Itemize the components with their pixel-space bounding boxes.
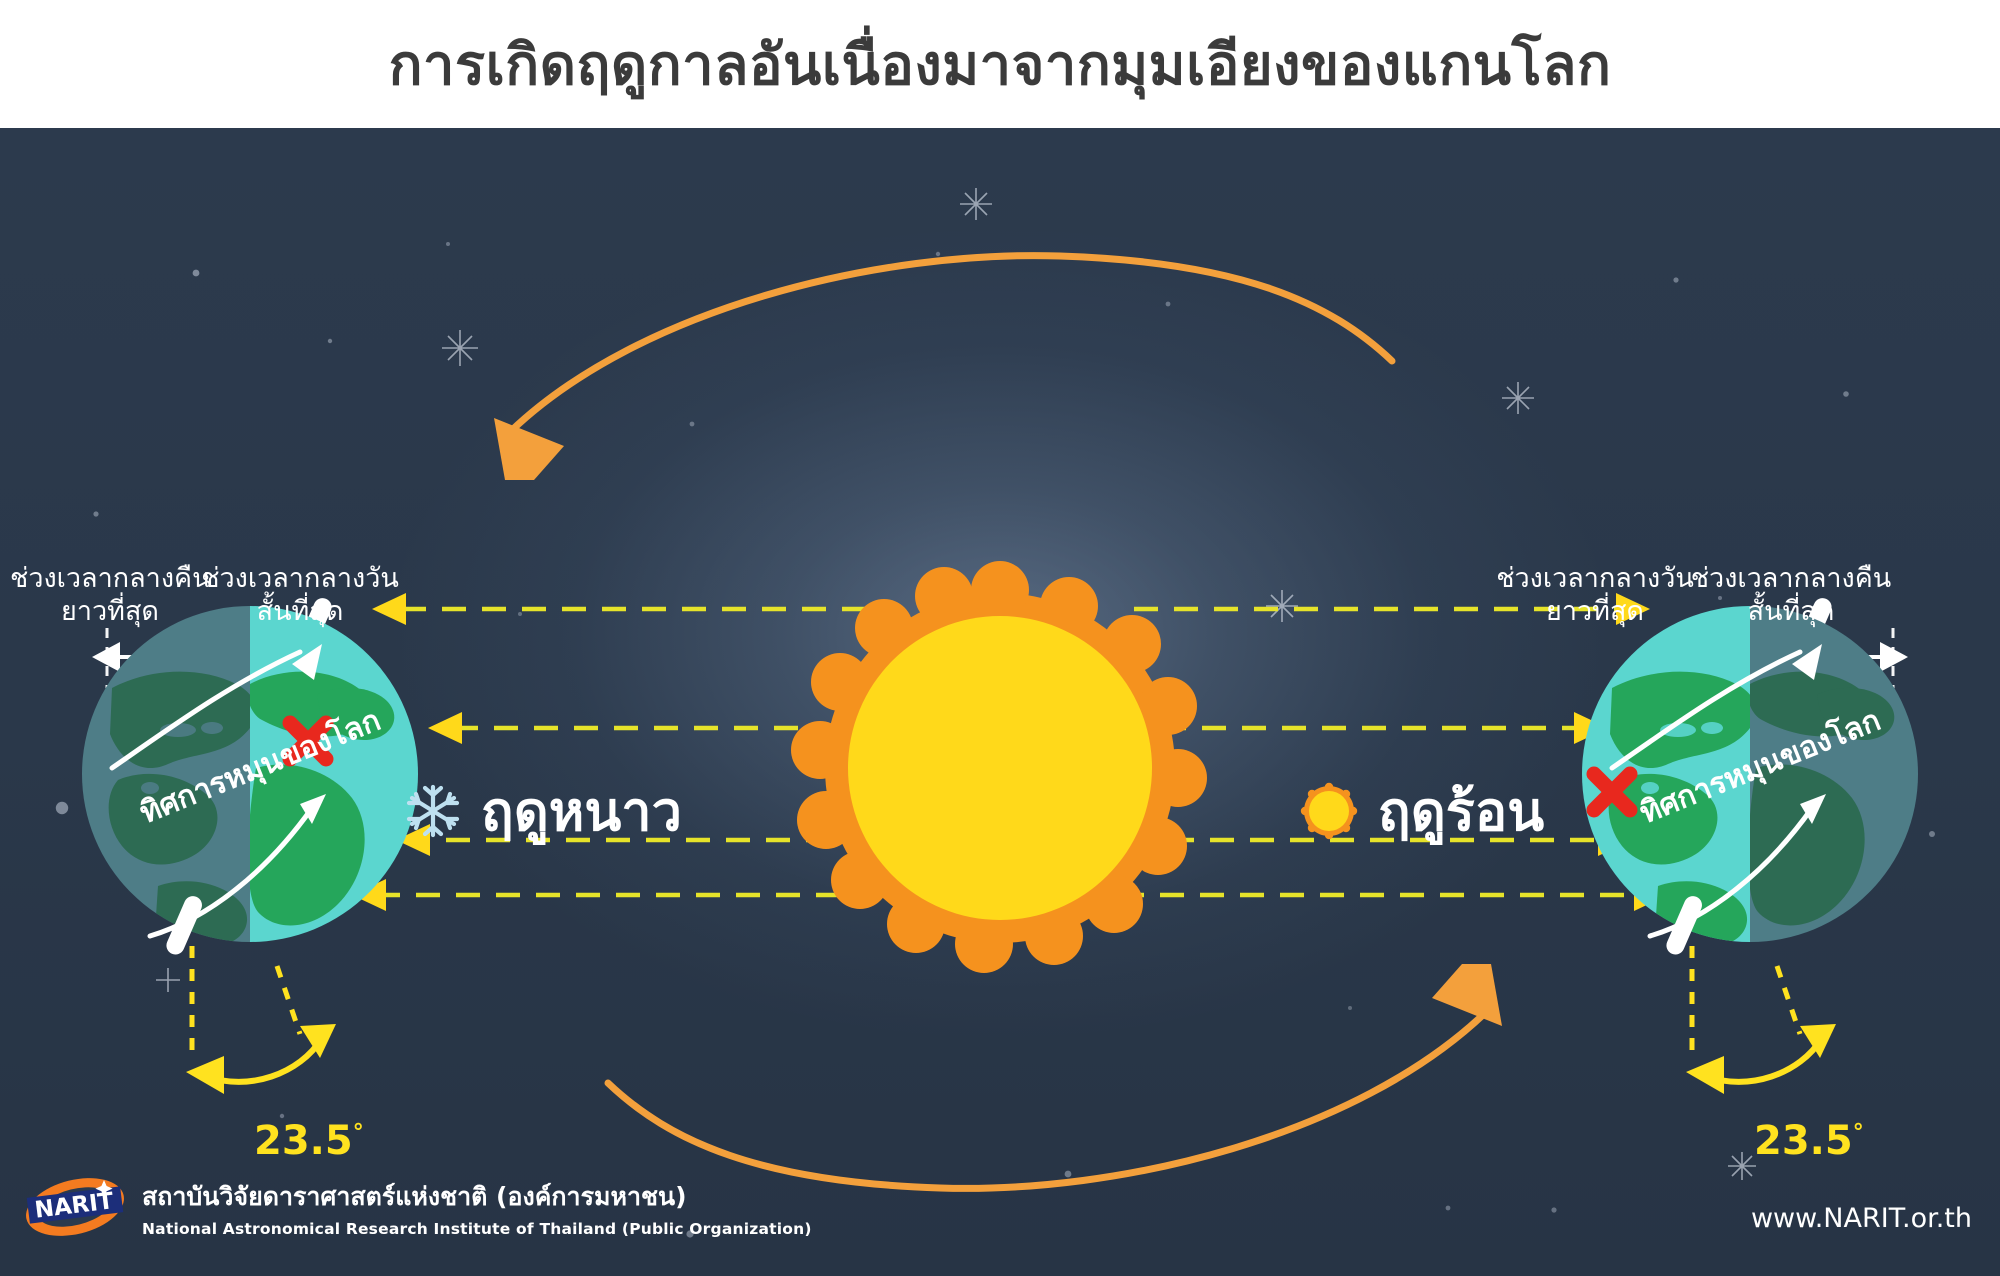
narit-logo-icon: NARIT — [22, 1172, 128, 1242]
left-tilt-label: 23.5° — [254, 1118, 364, 1164]
left-day-line2: สั้นที่สุด — [200, 596, 400, 629]
right-bracket-label-night: ช่วงเวลากลางคืน สั้นที่สุด — [1686, 563, 1896, 629]
page-title: การเกิดฤดูกาลอันเนื่องมาจากมุมเอียงของแก… — [389, 20, 1612, 109]
right-night-line2: สั้นที่สุด — [1686, 596, 1896, 629]
right-bracket-label-day: ช่วงเวลากลางวัน ยาวที่สุด — [1490, 563, 1700, 629]
right-season-label: ฤดูร้อน — [1378, 768, 1544, 854]
website-url[interactable]: www.NARIT.or.th — [1751, 1203, 1972, 1234]
left-tilt-degree: ° — [353, 1121, 364, 1146]
right-tilt-degree: ° — [1853, 1121, 1864, 1146]
right-tilt-value: 23.5 — [1754, 1118, 1853, 1164]
left-season-row: ฤดูหนาว — [405, 768, 682, 854]
sun-icon — [1300, 782, 1358, 840]
left-bracket-label-day: ช่วงเวลากลางวัน สั้นที่สุด — [200, 563, 400, 629]
org-name-english: National Astronomical Research Institute… — [142, 1220, 812, 1238]
title-bar: การเกิดฤดูกาลอันเนื่องมาจากมุมเอียงของแก… — [0, 0, 2000, 128]
snowflake-icon — [405, 782, 461, 840]
left-bracket-label-night: ช่วงเวลากลางคืน ยาวที่สุด — [10, 563, 210, 629]
left-night-line1: ช่วงเวลากลางคืน — [10, 563, 210, 596]
org-name-thai: สถาบันวิจัยดาราศาสตร์แห่งชาติ (องค์การมห… — [142, 1177, 812, 1217]
left-night-line2: ยาวที่สุด — [10, 596, 210, 629]
right-globe-group — [0, 128, 2000, 1276]
space-background: ช่วงเวลากลางคืน ยาวที่สุด ช่วงเวลากลางวั… — [0, 128, 2000, 1276]
right-tilt-indicator — [1686, 946, 1836, 1094]
left-day-line1: ช่วงเวลากลางวัน — [200, 563, 400, 596]
left-tilt-value: 23.5 — [254, 1118, 353, 1164]
right-day-line2: ยาวที่สุด — [1490, 596, 1700, 629]
right-season-row: ฤดูร้อน — [1300, 768, 1544, 854]
narit-logo-block: NARIT สถาบันวิจัยดาราศาสตร์แห่งชาติ (องค… — [22, 1172, 812, 1242]
right-tilt-label: 23.5° — [1754, 1118, 1864, 1164]
right-night-line1: ช่วงเวลากลางคืน — [1686, 563, 1896, 596]
right-day-line1: ช่วงเวลากลางวัน — [1490, 563, 1700, 596]
left-season-label: ฤดูหนาว — [481, 768, 682, 854]
infographic-root: การเกิดฤดูกาลอันเนื่องมาจากมุมเอียงของแก… — [0, 0, 2000, 1276]
